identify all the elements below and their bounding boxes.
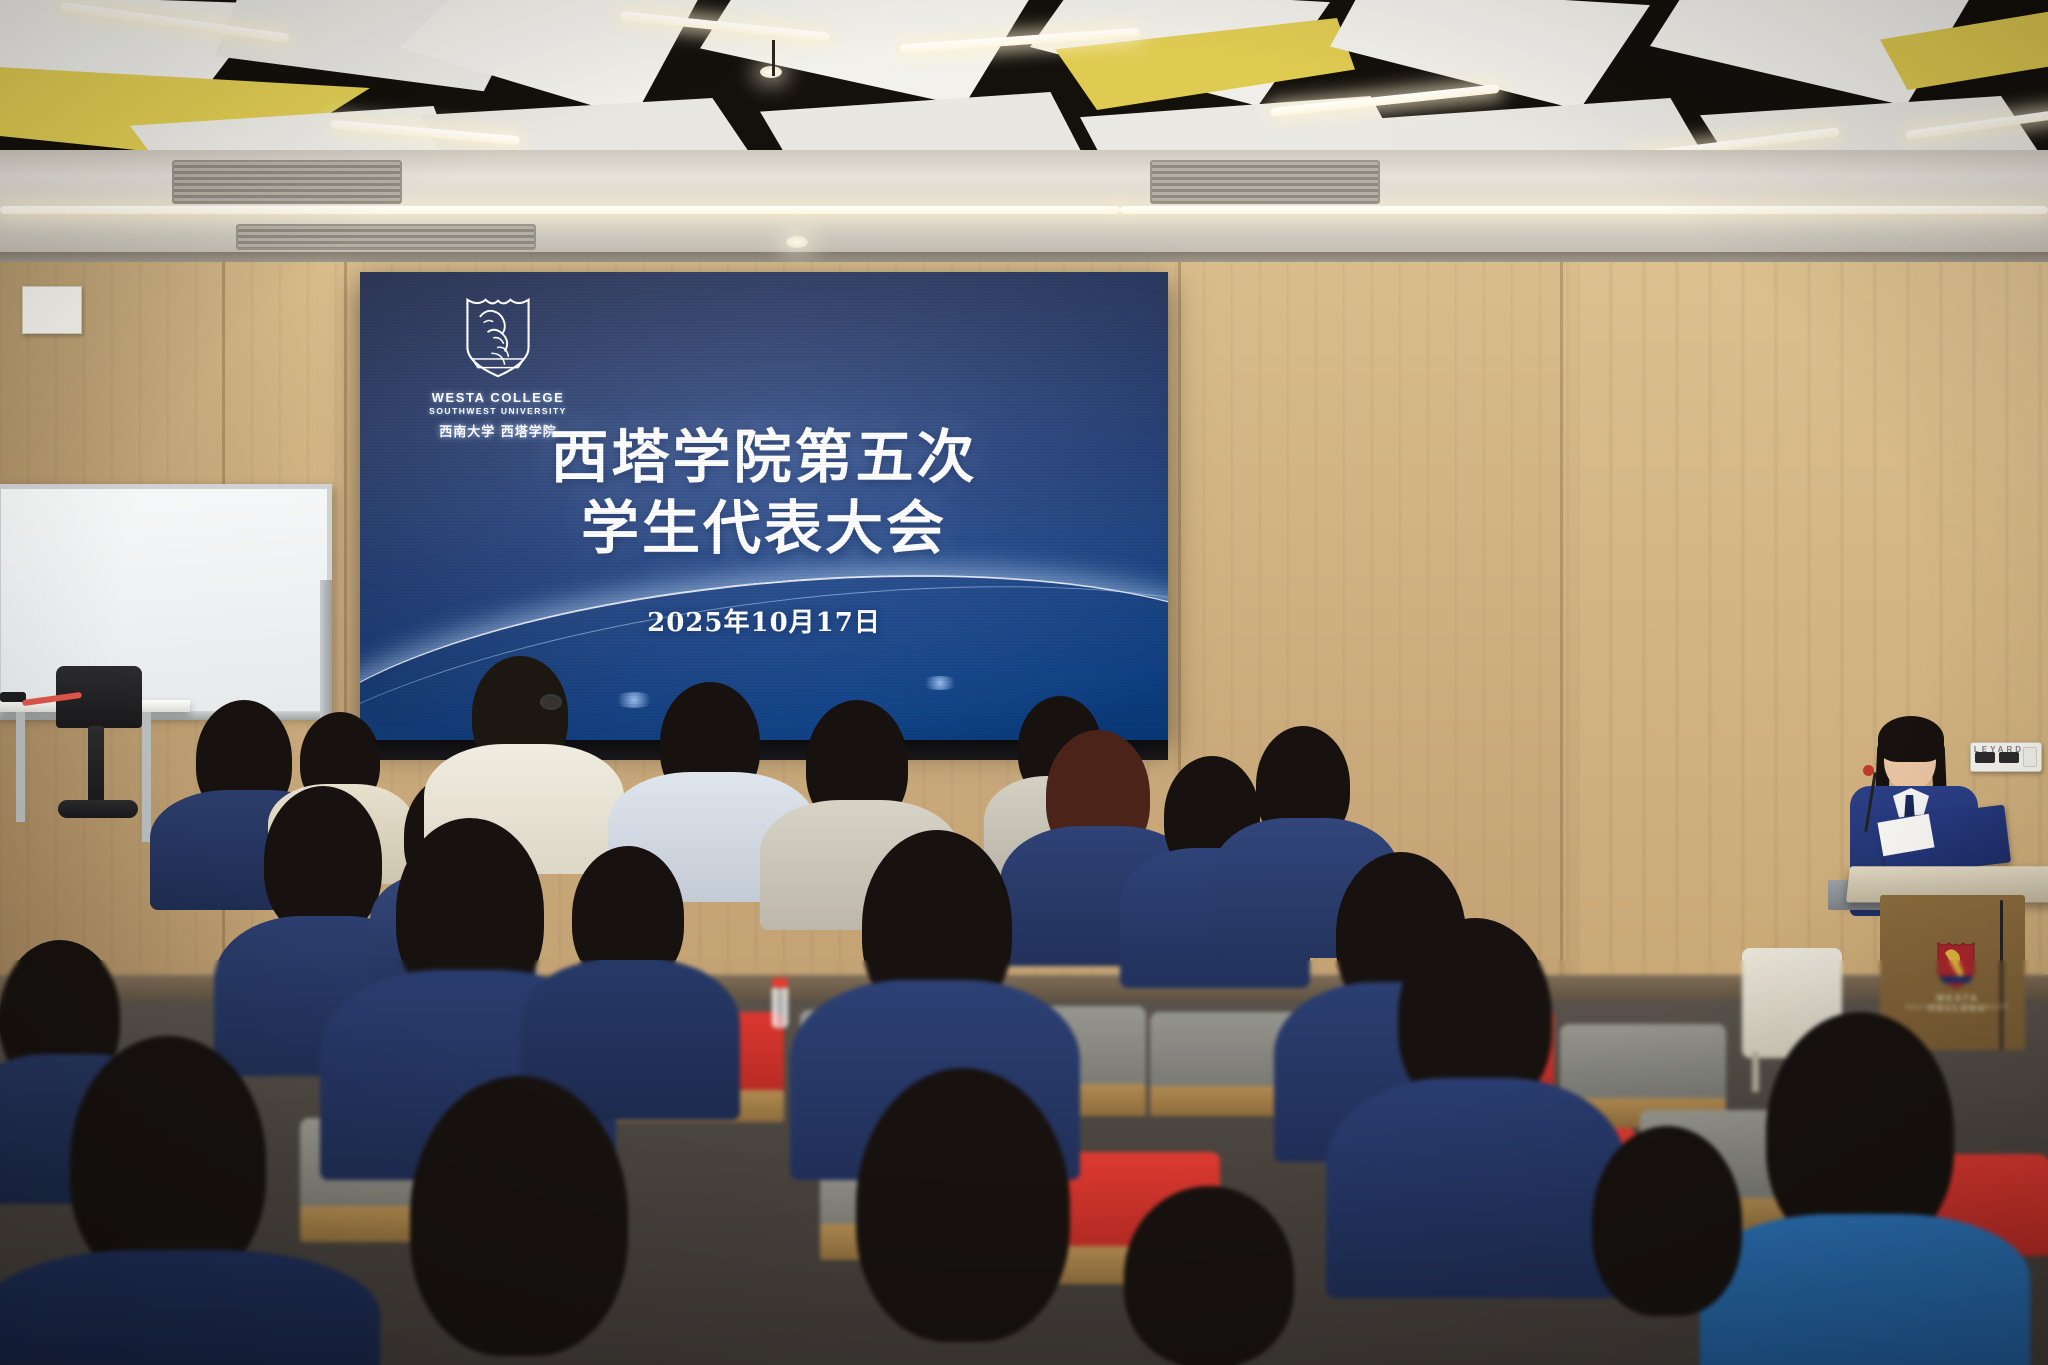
ceiling-panel-white [700,0,1030,106]
ceiling [0,0,2048,168]
podium-tiger-crest-icon [1935,940,1977,990]
audience-head [264,786,382,936]
speaker-hair-top [1878,716,1944,762]
seat-gray [1560,1024,1726,1104]
screen-title-line-2: 学生代表大会 [360,493,1168,564]
screen-glow-dot [612,692,656,708]
tiger-crest-icon [461,294,535,380]
ceiling-hanger [772,40,775,76]
audience-head [1592,1126,1742,1316]
office-chair-wheels [58,800,138,818]
soffit-light-strip [0,206,1120,214]
ceiling-light-strip [1270,84,1500,117]
screen-logo-english: WESTA COLLEGE [408,391,588,406]
audience-head [856,1068,1070,1342]
audience-head [1124,1186,1294,1365]
audience-shoulders [0,1250,380,1365]
podium-cable [2000,900,2003,1050]
air-vent [236,224,536,250]
screen-title-line-1: 西塔学院第五次 [360,422,1168,493]
screen-logo-english-sub: SOUTHWEST UNIVERSITY [408,406,588,418]
side-chair-leg [1752,1052,1759,1092]
screen-date: 2025年10月17日 [360,602,1168,639]
audience-shoulders [1326,1078,1626,1298]
whiteboard-tray [0,712,332,720]
desk-leg [16,712,25,822]
office-chair-base [88,726,104,806]
audience-head [410,1076,628,1356]
screen-title: 西塔学院第五次 学生代表大会 [360,422,1168,564]
audience-head [70,1036,266,1286]
eyeglasses [540,694,562,710]
whiteboard [0,484,332,716]
wall-seam [1560,262,1563,1002]
control-switch[interactable] [2023,747,2037,767]
soffit-light-strip [1120,206,2048,214]
screen-brand-label: LEYARD [1974,745,2024,754]
air-vent [1150,160,1380,204]
screen-logo-block: WESTA COLLEGE SOUTHWEST UNIVERSITY 西南大学 … [408,294,588,440]
desk-leg [142,712,151,842]
podium-university-name: SOUTHWEST UNIVERSITY [1905,1005,2010,1011]
screen-glow-dot [920,676,960,690]
lecture-hall-photo: WESTA COLLEGE SOUTHWEST UNIVERSITY 西南大学 … [0,0,2048,1365]
ceiling-spotlight [786,236,808,248]
air-vent [172,160,402,204]
ceiling-spotlight [760,66,782,78]
podium-microphone-head [1863,765,1874,776]
water-bottle [772,986,788,1028]
whiteboard-mount-arm [320,580,332,730]
wall-paper-note [22,286,82,334]
presentation-screen: WESTA COLLEGE SOUTHWEST UNIVERSITY 西南大学 … [360,272,1168,740]
audience-shoulders [1700,1214,2030,1365]
water-bottle-cap [772,978,788,988]
